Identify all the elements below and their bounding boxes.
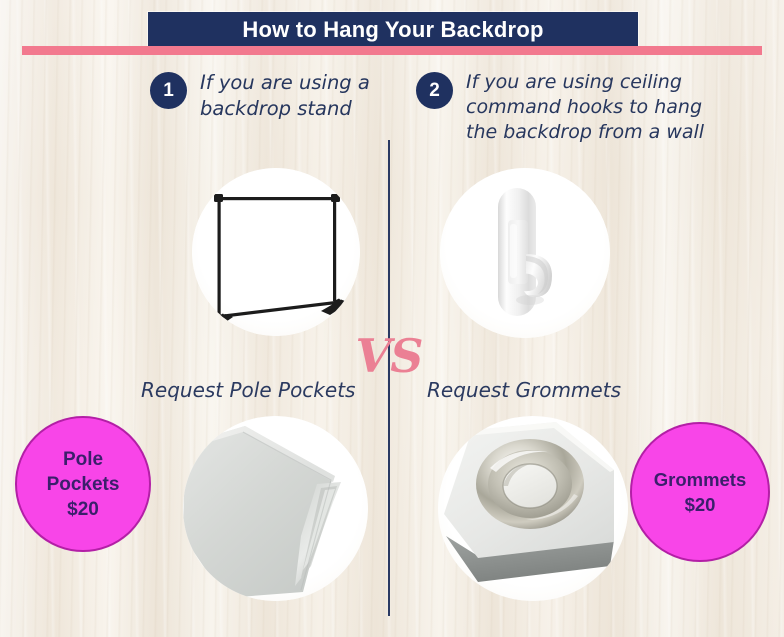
grommet-icon — [438, 416, 628, 601]
pole-pockets-caption: Request Pole Pockets — [141, 378, 355, 402]
grommets-caption: Request Grommets — [427, 378, 621, 402]
step-2-description: If you are using ceiling command hooks t… — [466, 70, 704, 145]
grommets-price-text: Grommets $20 — [648, 467, 753, 517]
command-hook-photo — [440, 168, 610, 338]
folded-fabric-icon — [183, 416, 368, 601]
grommets-price-badge[interactable]: Grommets $20 — [630, 422, 770, 562]
step-1-block: 1 If you are using a backdrop stand — [150, 70, 370, 122]
infographic-canvas: How to Hang Your Backdrop 1 If you are u… — [0, 0, 784, 637]
backdrop-stand-photo — [192, 168, 360, 336]
step-2-block: 2 If you are using ceiling command hooks… — [416, 70, 704, 145]
backdrop-stand-icon — [192, 168, 360, 336]
step-1-number-badge: 1 — [150, 72, 187, 109]
pink-divider-rule — [22, 46, 762, 55]
step-1-description: If you are using a backdrop stand — [200, 70, 370, 122]
command-hook-icon — [440, 168, 610, 338]
pole-pocket-fabric-photo — [183, 416, 368, 601]
page-title-bar: How to Hang Your Backdrop — [148, 12, 638, 47]
versus-label: VS — [352, 329, 426, 383]
pole-pockets-price-badge[interactable]: Pole Pockets $20 — [15, 416, 151, 552]
page-title: How to Hang Your Backdrop — [242, 17, 543, 43]
grommet-photo — [438, 416, 628, 601]
pole-pockets-price-text: Pole Pockets $20 — [41, 447, 126, 522]
step-2-number-badge: 2 — [416, 72, 453, 109]
